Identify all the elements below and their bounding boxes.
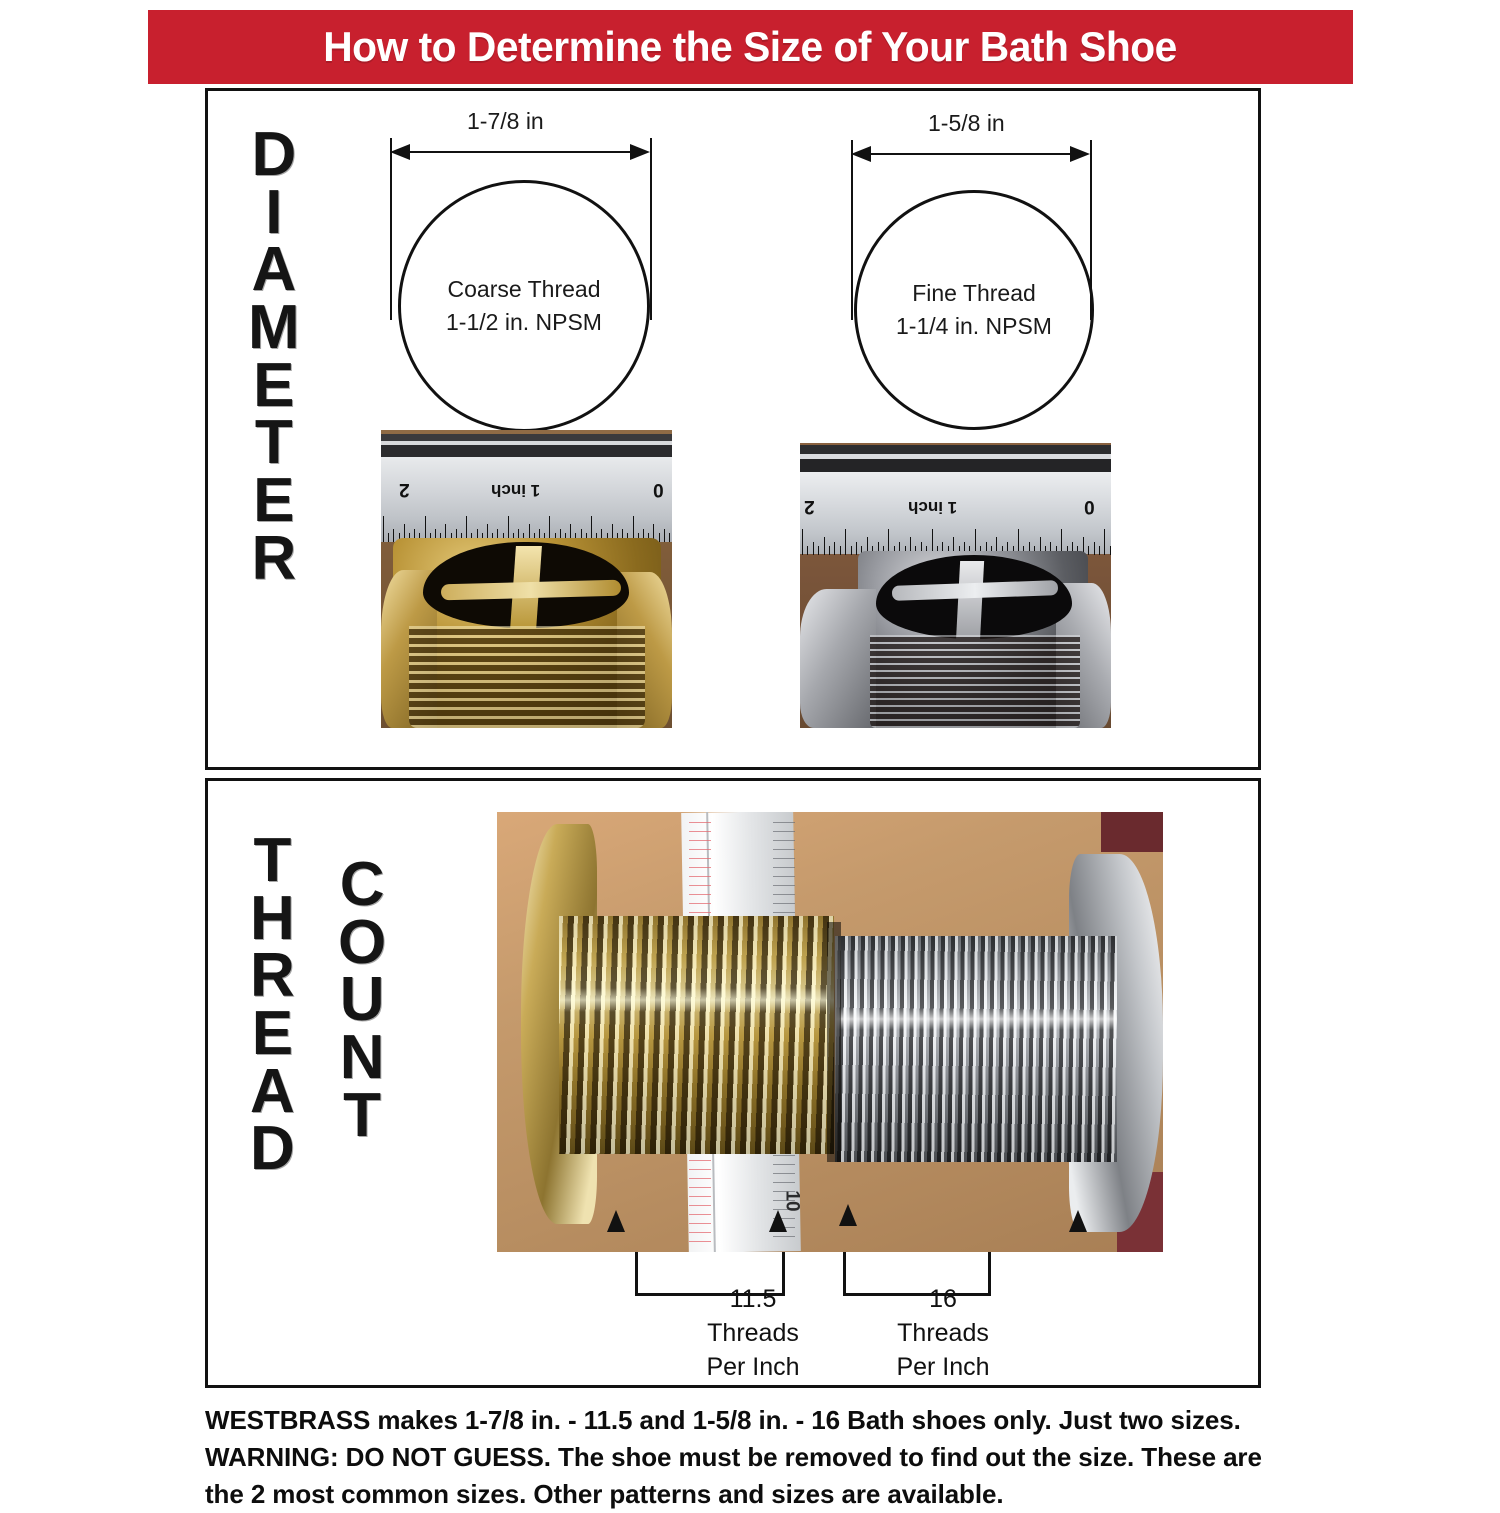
thread-letter-3: E [252,1005,293,1063]
count-letter-3: N [340,1029,385,1087]
count-letter-1: O [338,914,386,972]
callout-right-line3: Per Inch [888,1351,998,1385]
callout-left-line3: Per Inch [698,1351,808,1385]
right-dimension-arrow-left [851,146,871,162]
right-dimension-line [859,153,1084,155]
page-title: How to Determine the Size of Your Bath S… [324,23,1178,71]
left-dimension-arrow-right [630,144,650,160]
left-dimension-label: 1-7/8 in [467,108,544,135]
fine-thread-circle: Fine Thread 1-1/4 in. NPSM [854,190,1094,430]
ruler-number-1inch-right: 1 inch [908,497,957,517]
thread-letter-2: R [250,947,295,1005]
diameter-letter-4: E [253,357,294,415]
ruler-number-0-left: 0 [653,478,664,500]
header-banner: How to Determine the Size of Your Bath S… [148,10,1353,84]
thread-letter-0: T [253,832,291,890]
coarse-thread-line1: Coarse Thread [448,273,601,306]
callout-right-text: 16 Threads Per Inch [888,1283,998,1384]
ruler-number-10: 10 [781,1190,803,1211]
left-dimension-arrow-left [390,144,410,160]
diameter-letter-7: R [251,530,296,588]
callout-left-value: 11.5 [698,1283,808,1317]
ruler-number-2-right: 2 [804,495,815,517]
footer-line-2: WARNING: DO NOT GUESS. The shoe must be … [205,1439,1265,1476]
left-dimension-line [398,151,644,153]
right-dimension-label: 1-5/8 in [928,110,1005,137]
callout-leader-right-a [843,1252,846,1296]
infographic-root: How to Determine the Size of Your Bath S… [0,0,1500,1500]
thread-letter-5: D [250,1120,295,1178]
ruler-number-0-right: 0 [1084,495,1095,517]
diameter-letter-3: M [248,299,300,357]
right-extension-line-start [851,140,853,320]
ruler-number-2-left: 2 [399,478,410,500]
diameter-letter-6: E [253,472,294,530]
thread-letter-1: H [250,890,295,948]
coarse-thread-circle: Coarse Thread 1-1/2 in. NPSM [398,180,650,432]
coarse-thread-line2: 1-1/2 in. NPSM [446,306,602,339]
count-letter-4: T [343,1087,381,1145]
footer-note: WESTBRASS makes 1-7/8 in. - 11.5 and 1-5… [205,1402,1265,1513]
callout-right-line2: Threads [888,1317,998,1351]
count-letter-0: C [340,856,385,914]
fine-thread-line1: Fine Thread [912,277,1036,310]
thread-letter-4: A [250,1063,295,1121]
brass-shoe-photo: 2 1 inch 0 [381,430,672,728]
diameter-letter-5: T [255,414,293,472]
footer-line-1: WESTBRASS makes 1-7/8 in. - 11.5 and 1-5… [205,1402,1265,1439]
footer-line-3: the 2 most common sizes. Other patterns … [205,1476,1265,1513]
diameter-letter-2: A [251,241,296,299]
left-extension-line-end [650,138,652,320]
fine-thread-line2: 1-1/4 in. NPSM [896,310,1052,343]
callout-leader-left-a [635,1252,638,1296]
count-letter-2: U [340,971,385,1029]
right-dimension-arrow-right [1070,146,1090,162]
diameter-section-label: D I A M E T E R [248,126,300,587]
diameter-letter-0: D [251,126,296,184]
thread-comparison-photo: 10 [497,812,1163,1252]
chrome-shoe-photo: 2 1 inch 0 [800,443,1111,728]
count-section-label: C O U N T [338,856,386,1144]
callout-left-line2: Threads [698,1317,808,1351]
callout-right-value: 16 [888,1283,998,1317]
callout-left-text: 11.5 Threads Per Inch [698,1283,808,1384]
ruler-number-1inch-left: 1 inch [491,480,540,500]
left-extension-line-start [390,138,392,320]
diameter-letter-1: I [265,184,282,242]
thread-section-label: T H R E A D [250,832,295,1178]
